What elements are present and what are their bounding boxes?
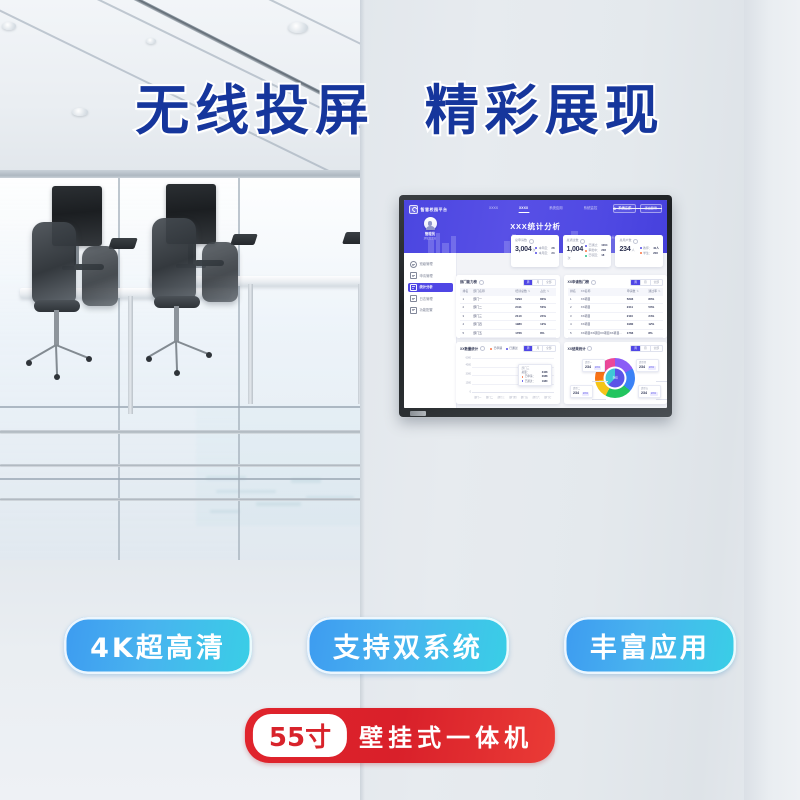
range-week[interactable]: 周 [631,346,641,351]
dashboard-content: 总申请数 3,004次 本年度：28 [456,253,667,408]
nav-item-active[interactable]: XXXX [519,206,528,212]
feature-badges: 4K超高清 支持双系统 丰富应用 [0,617,800,674]
cards-grid: 部门能力榜 周 月 全部 排名 部门名称 [456,275,667,404]
y-axis: 6000 4500 3000 1500 0 [460,356,472,393]
sidebar-item-label: 统计分析 [420,285,433,289]
range-all[interactable]: 全部 [651,346,662,351]
stat-label: 总用户数 [619,239,631,243]
chart-legend[interactable]: 已申请 已通过 [490,347,517,350]
sidebar-item-application-management[interactable]: 申请管理 [408,271,453,280]
card-bar-chart: XX数量统计 已申请 已通过 周 月 全部 [456,342,560,405]
sidebar-item-config[interactable]: 功能配置 [408,306,453,315]
ceiling-light-icon [146,38,156,44]
office-chair [32,222,76,304]
app-logo-icon [409,205,418,214]
card-title: 部门能力榜 [460,280,477,284]
chart-tooltip: 部门三 总量：3468 已申请：2088 已通过：1380 [518,364,552,386]
sidebar[interactable]: 管理员 超级管理员 班级管理 申请管理 统计分析 日志管理 [404,253,457,408]
info-icon[interactable] [591,280,596,285]
bullet-dot [585,255,587,257]
col-rate[interactable]: 通过率⇅ [646,288,663,296]
card-application-ranking: XX申请热门榜 周 月 全部 排名 XX名称 [564,275,668,338]
sidebar-item-statistics[interactable]: 统计分析 [408,283,453,292]
wall-mounted-display: 智慧校园平台 XXXX XXXX 系统应用 系统监控 系统工具 ⚙ 系统设置 ⟳… [399,195,672,417]
table-department-ranking: 排名 部门名称 培训总数⇅ 占比⇅ 1部门一529380% 2部门二241150… [460,288,556,337]
info-icon[interactable] [529,239,534,244]
stat-card-total-applications: 总申请数 3,004次 本年度：28 [511,235,559,267]
table-row: 3XX项目211024% [568,312,664,320]
sidebar-menu[interactable]: 班级管理 申请管理 统计分析 日志管理 功能配置 [404,253,456,315]
table-row: 3部门三211024% [460,312,556,320]
table-application-ranking: 排名 XX名称 申请数⇅ 通过率⇅ 1XX项目529380% 2XX项目2411… [568,288,664,337]
stat-value: 3,004次 [515,246,535,255]
stat-label: 总申请数 [515,239,527,243]
info-icon[interactable] [479,280,484,285]
range-all[interactable]: 全部 [543,280,554,285]
info-icon[interactable] [633,239,638,244]
table-row: 1部门一529380% [460,296,556,304]
user-name: 管理员 [404,232,456,236]
sidebar-item-class-management[interactable]: 班级管理 [408,260,453,269]
sidebar-item-label: 班级管理 [420,262,433,266]
top-nav[interactable]: XXXX XXXX 系统应用 系统监控 系统工具 [489,206,632,212]
range-selector[interactable]: 周 月 全部 [630,279,663,286]
product-banner: 55寸 壁挂式一体机 [245,708,555,763]
stat-value: 234人 [619,246,638,255]
bar-chart[interactable]: 6000 4500 3000 1500 0 [460,356,556,401]
range-week[interactable]: 周 [524,280,534,285]
headline-text: 无线投屏 精彩展现 [0,66,800,145]
range-month[interactable]: 月 [641,280,651,285]
range-all[interactable]: 全部 [543,346,554,351]
sidebar-item-logs[interactable]: 日志管理 [408,294,453,303]
brand-row: 智慧校园平台 [409,205,448,214]
stat-cards-row: 总申请数 3,004次 本年度：28 [511,235,663,267]
table-row: 4部门四198012% [460,321,556,329]
settings-icon [410,307,417,314]
x-axis: 部门一 部门二 部门三 部门四 部门五 部门六 部门七 [472,394,554,401]
col-count[interactable]: 申请数⇅ [624,288,646,296]
col-name: 部门名称 [471,288,513,296]
legend-item-approved: 已通过 [506,347,518,350]
table-row: 1XX项目529380% [568,296,664,304]
range-month[interactable]: 月 [641,346,651,351]
col-rank: 排名 [568,288,579,296]
bullet-dot [585,250,587,252]
product-size: 55寸 [253,714,347,757]
card-title: XX申请热门榜 [568,280,589,284]
tooltip-swatch [522,380,524,382]
range-selector[interactable]: 周 月 全部 [630,345,663,352]
info-icon[interactable] [480,346,485,351]
col-rank: 排名 [460,288,471,296]
stat-subitem: 学生：208 [640,252,659,255]
ceiling-light-icon [2,22,16,30]
tv-brand-logo [410,411,426,416]
stat-subitem: 本月度：23 [535,252,554,255]
card-icon [410,272,417,279]
doc-icon [410,295,417,302]
globe-icon [410,261,417,268]
top-actions[interactable]: ⚙ 系统设置 ⟳ 退出登录 [613,204,662,213]
range-month[interactable]: 月 [533,346,543,351]
bullet-dot [640,252,642,254]
legend-swatch [506,348,508,350]
floor [0,560,380,800]
stat-subitem: 已通过：1004 [585,244,607,247]
keyboard [230,234,258,245]
legend-item-applied: 已申请 [490,347,502,350]
nav-item[interactable]: XXXX [489,206,498,212]
range-selector[interactable]: 周 月 全部 [523,345,556,352]
table-header-row: 排名 部门名称 培训总数⇅ 占比⇅ [460,288,556,296]
office-chair [152,218,196,300]
tooltip-swatch [522,376,524,378]
col-total[interactable]: 培训总数⇅ [513,288,538,296]
legend-swatch [490,348,492,350]
donut-chart[interactable]: 办结 类型一 23420% 类型二 [568,355,664,401]
donut-callout: 类型二 23420% [570,385,593,398]
office-chair [82,246,118,306]
range-week[interactable]: 周 [524,346,534,351]
bullet-dot [585,245,587,247]
donut-callout: 类型一 23420% [582,359,605,372]
stat-subitem: 本年度：28 [535,247,554,250]
user-role: 超级管理员 [404,237,456,240]
dashboard-screen[interactable]: 智慧校园平台 XXXX XXXX 系统应用 系统监控 系统工具 ⚙ 系统设置 ⟳… [404,200,667,408]
donut-center: 办结 [606,368,625,387]
stat-subitem: 已驳回：18 [585,254,607,257]
nav-item[interactable]: 系统监控 [584,206,598,212]
table-header-row: 排名 XX名称 申请数⇅ 通过率⇅ [568,288,664,296]
badge-4k: 4K超高清 [64,617,252,674]
stat-card-total-users: 总用户数 234人 教师：40人 [615,235,663,267]
bullet-dot [535,247,537,249]
user-block: 管理员 超级管理员 [404,217,456,240]
col-ratio[interactable]: 占比⇅ [538,288,556,296]
col-name: XX名称 [578,288,624,296]
bullet-dot [640,247,642,249]
range-month[interactable]: 月 [533,280,543,285]
sidebar-item-label: 申请管理 [420,274,433,278]
card-title: XX数量统计 [460,347,478,351]
logout-button[interactable]: ⟳ 退出登录 [640,204,662,213]
card-donut-chart: XX结果统计 周 月 全部 办结 [564,342,668,405]
ceiling-light-icon [288,22,308,33]
card-department-ranking: 部门能力榜 周 月 全部 排名 部门名称 [456,275,560,338]
sidebar-item-label: 功能配置 [420,308,433,312]
table-row: 4XX项目198012% [568,321,664,329]
avatar [424,217,437,230]
stat-card-total-approved: 总通过数 1,004次 已通过：1004 [563,235,612,267]
table-row: 5部门五17668% [460,329,556,337]
table-row: 2部门二241150% [460,304,556,312]
stat-subitem: 审批中：208 [585,249,607,252]
stat-label: 总通过数 [567,239,579,243]
donut-callout: 类型五 23420% [638,385,661,398]
table-row: 5XX项目XX项目XX项目XX项目...17668% [568,329,664,337]
stat-subitem: 教师：40人 [640,247,659,250]
range-week[interactable]: 周 [631,280,641,285]
card-title: XX结果统计 [568,347,586,351]
badge-rich-apps: 丰富应用 [564,617,736,674]
info-icon[interactable] [587,346,592,351]
badge-dual-system: 支持双系统 [307,617,509,674]
chart-icon [410,284,417,291]
product-type: 壁挂式一体机 [359,718,533,753]
donut-callout: 类型四 23420% [636,359,659,372]
stat-value: 1,004次 [567,246,586,264]
sidebar-item-label: 日志管理 [420,297,433,301]
range-all[interactable]: 全部 [651,280,662,285]
range-selector[interactable]: 周 月 全部 [523,279,556,286]
bullet-dot [535,252,537,254]
nav-item[interactable]: 系统应用 [549,206,563,212]
brand-name: 智慧校园平台 [421,207,448,212]
tooltip-title: 部门三 [522,367,548,370]
table-row: 2XX项目241150% [568,304,664,312]
office-chair [202,242,238,302]
